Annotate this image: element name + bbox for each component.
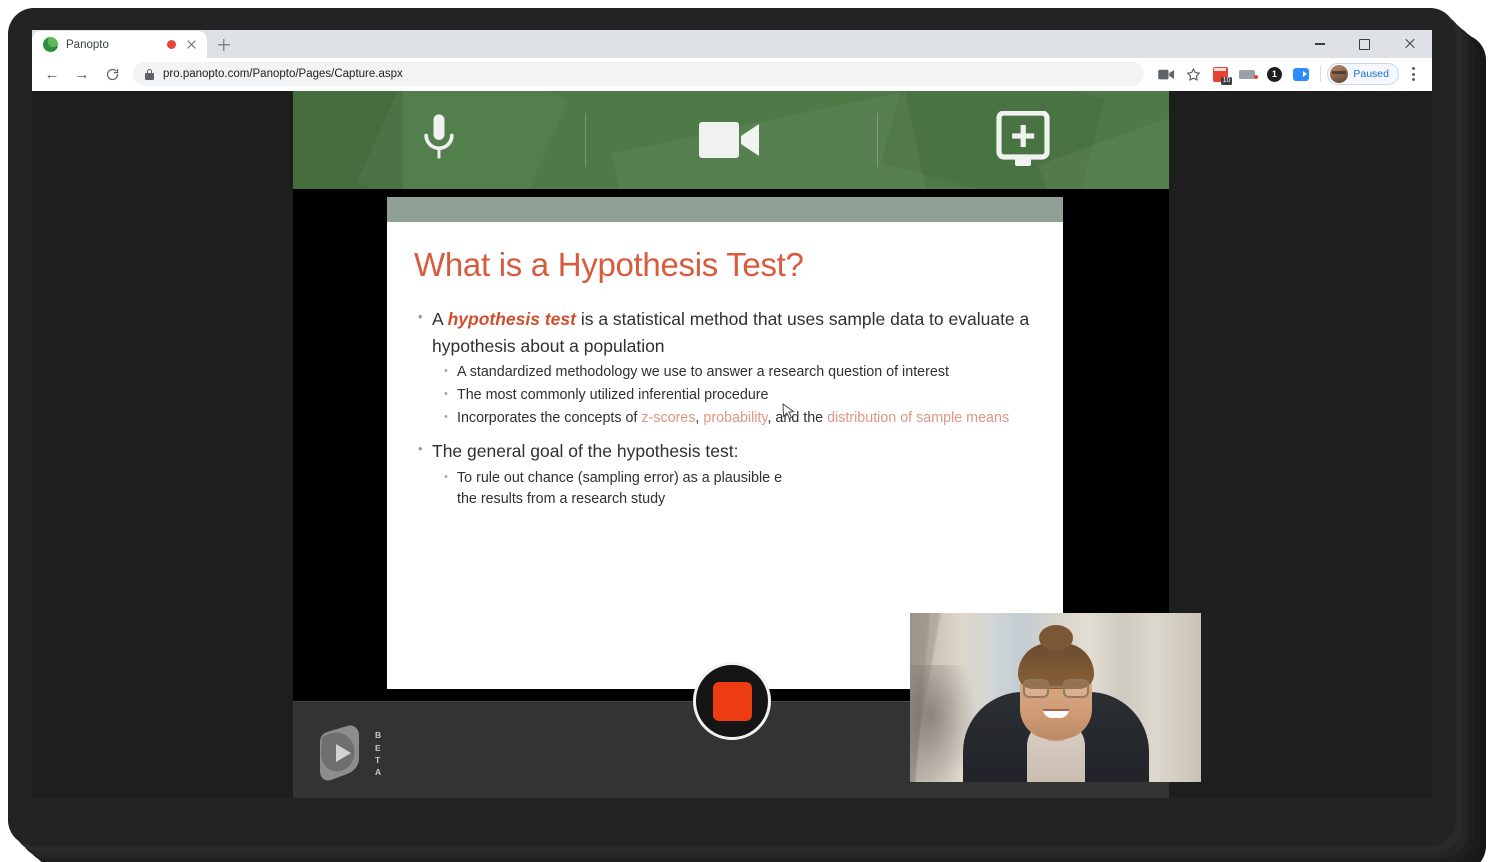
mouse-cursor-icon [782, 403, 795, 421]
bullet-level1: • A hypothesis test is a statistical met… [414, 306, 1037, 360]
browser-toolbar: ← → pro.panopto.com/Panopto/Pages/Captur… [32, 58, 1432, 91]
capture-source-toolbar [293, 91, 1169, 189]
slide-header-band [387, 197, 1063, 222]
microphone-toggle[interactable] [293, 91, 585, 189]
reload-icon[interactable] [98, 60, 126, 88]
bullet-level1: • The general goal of the hypothesis tes… [414, 438, 1037, 465]
notification-badge-icon[interactable]: 1 [1261, 61, 1287, 87]
bullet-marker: • [444, 385, 457, 407]
tab-strip: Panopto [32, 30, 1432, 58]
back-button[interactable]: ← [38, 60, 66, 88]
toolbar-divider [1320, 66, 1321, 82]
avatar [1330, 65, 1348, 83]
bullet-level2: • The most commonly utilized inferential… [414, 385, 1037, 407]
calendar-day-number: 10 [1221, 77, 1233, 85]
grayed-extension-icon[interactable] [1234, 61, 1260, 87]
slide-body: What is a Hypothesis Test? • A hypothesi… [387, 222, 1063, 511]
bullet-level2: • To rule out chance (sampling error) as… [414, 468, 1037, 511]
bullet-level2: • A standardized methodology we use to a… [414, 362, 1037, 384]
window-maximize-icon[interactable] [1342, 30, 1387, 58]
tab-recording-indicator-icon [167, 40, 176, 49]
video-camera-icon [699, 118, 763, 162]
term-distribution-of-sample-means: distribution of sample means [827, 410, 1009, 426]
browser-window: Panopto ← → pro.panopto.com/Panopto/Page… [32, 30, 1432, 798]
camera-toggle[interactable] [585, 91, 877, 189]
term-probability: probability [703, 410, 767, 426]
panopto-favicon-icon [43, 37, 58, 52]
bullet-text: The general goal of the hypothesis test: [432, 438, 738, 465]
stop-recording-button[interactable] [693, 662, 771, 740]
video-camera-extension-icon[interactable] [1153, 61, 1179, 87]
bullet-text: The most commonly utilized inferential p… [457, 385, 769, 407]
forward-button[interactable]: → [68, 60, 96, 88]
panopto-logo-mark-icon [313, 724, 369, 784]
bullet-text: Incorporates the concepts of z-scores, p… [457, 408, 1009, 430]
presentation-stage: What is a Hypothesis Test? • A hypothesi… [293, 189, 1169, 701]
three-dot-menu-icon[interactable] [1400, 61, 1426, 87]
profile-status-label: Paused [1353, 68, 1389, 80]
screen-plus-icon [995, 111, 1051, 169]
bullet-marker: • [444, 408, 457, 430]
window-close-icon[interactable] [1387, 30, 1432, 58]
bullet-text: A hypothesis test is a statistical metho… [432, 306, 1037, 360]
profile-status-chip[interactable]: Paused [1327, 63, 1399, 85]
tab-title: Panopto [66, 39, 159, 51]
tab-close-icon[interactable] [184, 37, 199, 52]
calendar-extension-icon[interactable]: 10 [1207, 61, 1233, 87]
bullet-text: To rule out chance (sampling error) as a… [457, 468, 782, 511]
bullet-marker: • [444, 362, 457, 384]
window-controls [1297, 30, 1432, 58]
emphasis-hypothesis-test: hypothesis test [448, 309, 576, 329]
bullet-marker: • [418, 306, 432, 360]
lock-icon [145, 69, 154, 80]
bullet-text: A standardized methodology we use to ans… [457, 362, 949, 384]
slide-title: What is a Hypothesis Test? [414, 246, 1037, 284]
window-minimize-icon[interactable] [1297, 30, 1342, 58]
url-text: pro.panopto.com/Panopto/Pages/Capture.as… [163, 68, 403, 80]
page-viewport: What is a Hypothesis Test? • A hypothesi… [32, 91, 1432, 798]
browser-tab-panopto[interactable]: Panopto [32, 31, 207, 58]
notification-count: 1 [1267, 67, 1282, 82]
new-tab-button[interactable] [210, 31, 238, 58]
add-screen-source[interactable] [877, 91, 1169, 189]
address-bar[interactable]: pro.panopto.com/Panopto/Pages/Capture.as… [133, 62, 1144, 86]
panopto-logo: B E T A [313, 724, 382, 784]
beta-badge: B E T A [375, 729, 382, 778]
bullet-marker: • [444, 468, 457, 511]
bookmark-star-icon[interactable] [1180, 61, 1206, 87]
bullet-level2: • Incorporates the concepts of z-scores,… [414, 408, 1037, 430]
zoom-extension-icon[interactable] [1288, 61, 1314, 87]
stop-square-icon [713, 682, 752, 721]
term-z-scores: z-scores [641, 410, 695, 426]
bullet-marker: • [418, 438, 432, 465]
microphone-icon [417, 112, 461, 168]
webcam-self-view[interactable] [910, 613, 1201, 782]
toolbar-actions: 10 1 Paused [1153, 61, 1426, 87]
